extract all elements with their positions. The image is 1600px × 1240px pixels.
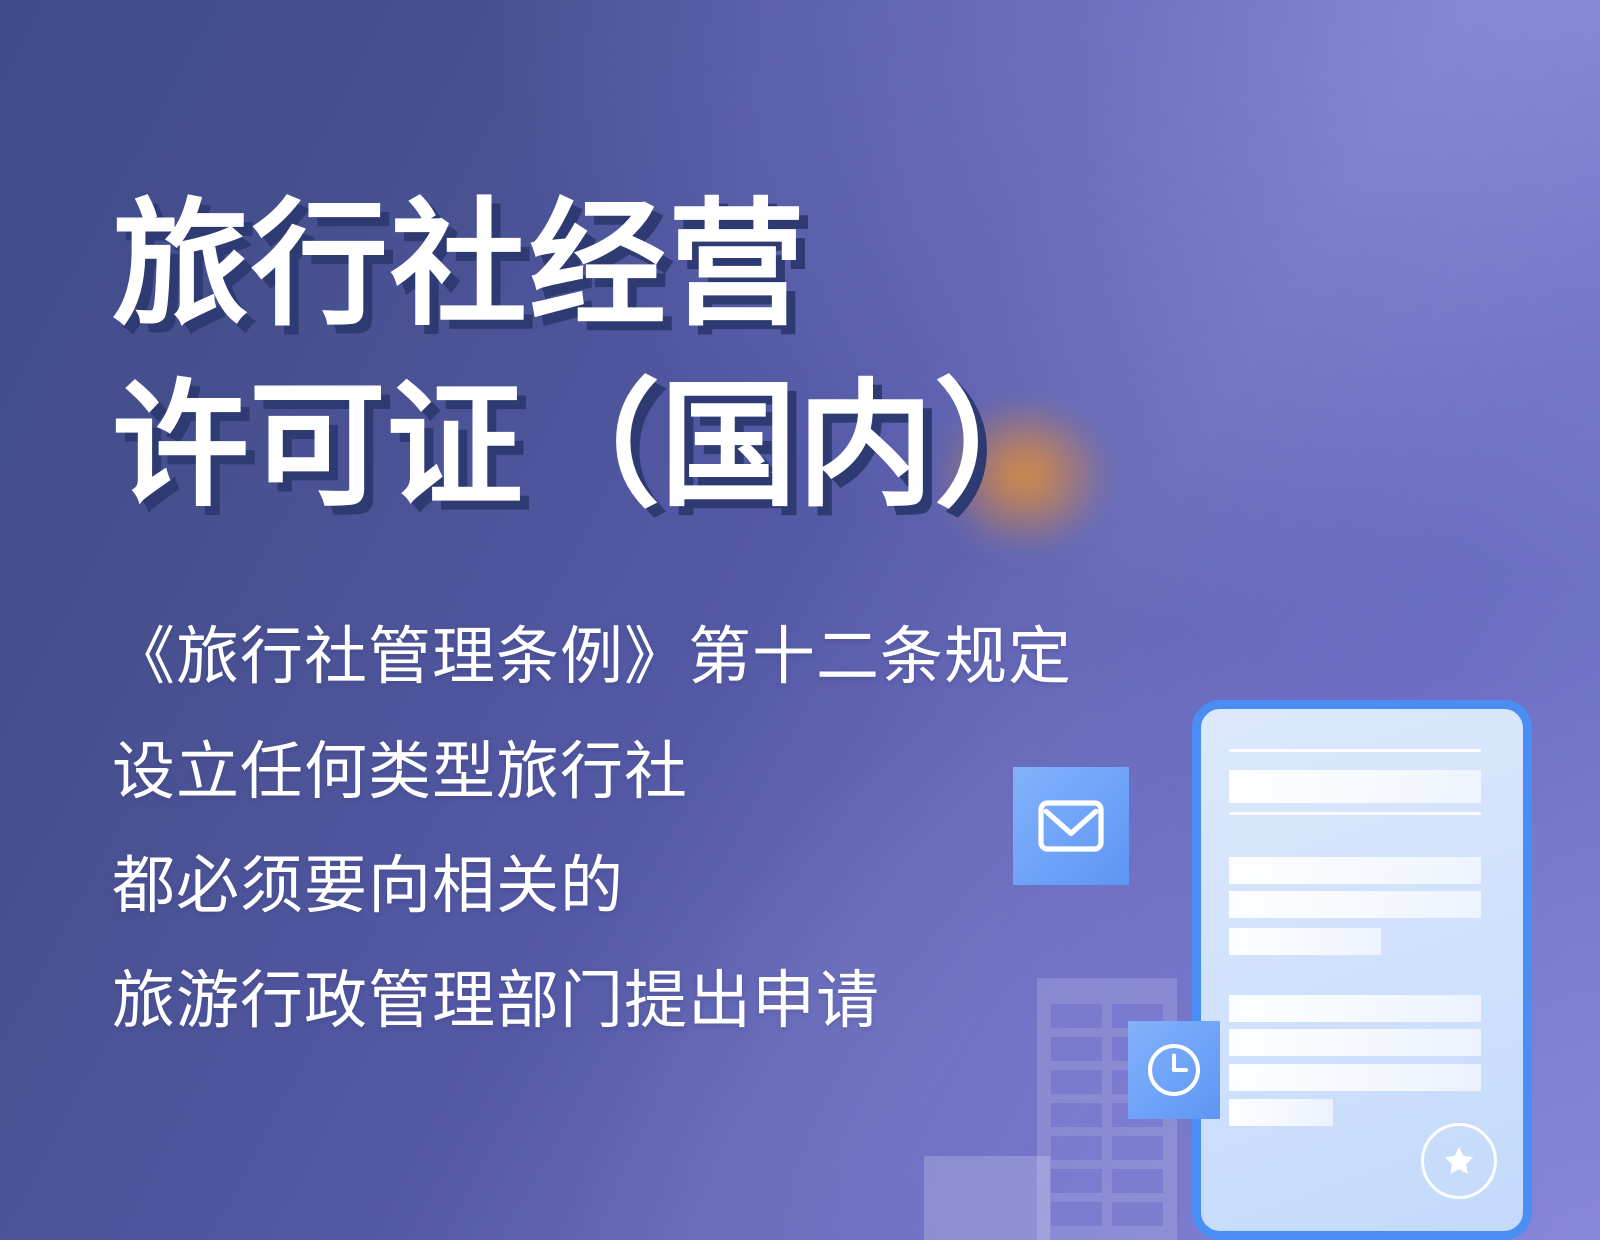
body-line-4: 旅游行政管理部门提出申请 <box>112 944 1072 1059</box>
body-line-1: 《旅行社管理条例》第十二条规定 <box>112 600 1072 715</box>
building-window <box>1051 1202 1102 1226</box>
building-window <box>1112 1202 1163 1226</box>
clock-icon <box>1145 1041 1203 1099</box>
poster-canvas: 旅行社经营 许可证（国内） 《旅行社管理条例》第十二条规定 设立任何类型旅行社 … <box>0 0 1600 1240</box>
document-card <box>1192 700 1532 1240</box>
page-title-line-1: 旅行社经营 <box>112 176 1071 357</box>
document-rule-line <box>1229 749 1481 752</box>
building-window <box>1112 1169 1163 1193</box>
document-text-bar <box>1229 995 1481 1022</box>
page-title: 旅行社经营 许可证（国内） <box>112 176 1071 538</box>
document-text-bar <box>1229 1099 1333 1126</box>
body-line-2: 设立任何类型旅行社 <box>112 715 1072 830</box>
page-title-line-2: 许可证（国内） <box>112 357 1071 538</box>
document-text-bar <box>1229 928 1381 955</box>
document-text-bar <box>1229 1029 1481 1056</box>
document-text-bar <box>1229 891 1481 918</box>
building-window <box>1051 1070 1102 1094</box>
document-text-bar <box>1229 857 1481 884</box>
body-line-3: 都必须要向相关的 <box>112 829 1072 944</box>
star-badge-icon <box>1421 1123 1497 1199</box>
building-window <box>1051 1103 1102 1127</box>
building-window <box>1051 1169 1102 1193</box>
document-rule-line <box>1229 812 1481 815</box>
body-copy: 《旅行社管理条例》第十二条规定 设立任何类型旅行社 都必须要向相关的 旅游行政管… <box>112 600 1072 1059</box>
building-window <box>1112 1136 1163 1160</box>
clock-tile <box>1128 1021 1220 1119</box>
document-text-bar <box>1229 1064 1481 1091</box>
document-card-body <box>1201 709 1523 1231</box>
building-window <box>1051 1136 1102 1160</box>
ground-slab <box>924 1156 1050 1240</box>
document-text-bar <box>1229 770 1481 803</box>
